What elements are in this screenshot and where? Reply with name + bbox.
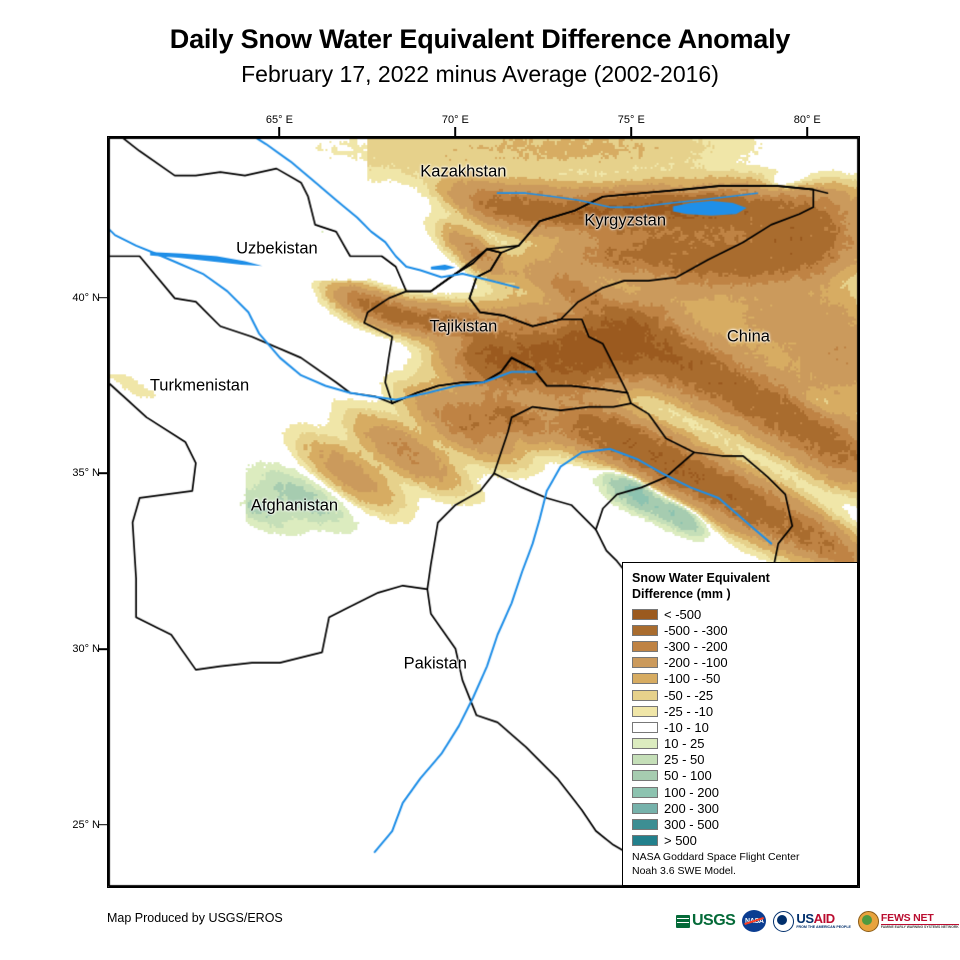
legend-entry: 50 - 100 [632,768,848,784]
legend-entry: -500 - -300 [632,622,848,638]
legend-swatch-14 [632,835,658,846]
legend-swatch-4 [632,673,658,684]
page-title: Daily Snow Water Equivalent Difference A… [0,22,960,56]
legend-entry: -50 - -25 [632,687,848,703]
lat-tick-label-0: 40° N [58,292,100,304]
lon-tick-label-3: 80° E [794,114,821,126]
legend-label-9: 25 - 50 [664,753,704,766]
legend-swatch-13 [632,819,658,830]
fews-logo-text: FEWS NET [881,913,959,926]
lat-tick-mark-0 [98,297,107,299]
legend-label-10: 50 - 100 [664,769,712,782]
legend-entry: 10 - 25 [632,736,848,752]
legend-swatch-12 [632,803,658,814]
legend-entry-list: < -500-500 - -300-300 - -200-200 - -100-… [632,606,848,849]
usaid-logo: USAID FROM THE AMERICAN PEOPLE [773,910,851,932]
legend-swatch-3 [632,657,658,668]
logo-strip: USGS NASA USAID FROM THE AMERICAN PEOPLE… [676,908,959,934]
lat-tick-label-2: 30° N [58,643,100,655]
legend-label-7: -10 - 10 [664,721,709,734]
page-subtitle: February 17, 2022 minus Average (2002-20… [0,59,960,89]
legend-label-12: 200 - 300 [664,802,719,815]
legend-entry: 100 - 200 [632,784,848,800]
legend-entry: 200 - 300 [632,800,848,816]
usgs-logo: USGS [676,910,735,932]
legend-label-14: > 500 [664,834,697,847]
usgs-logo-text: USGS [692,912,735,930]
legend-label-11: 100 - 200 [664,786,719,799]
lon-tick-mark-3 [806,127,808,136]
legend-entry: -10 - 10 [632,719,848,735]
legend-swatch-8 [632,738,658,749]
legend-swatch-0 [632,609,658,620]
legend-swatch-6 [632,706,658,717]
legend-entry: -300 - -200 [632,638,848,654]
nasa-logo-text: NASA [745,918,764,925]
legend-swatch-2 [632,641,658,652]
footer-credit: Map Produced by USGS/EROS [107,911,283,925]
lon-tick-label-0: 65° E [266,114,293,126]
fews-globe-icon [858,911,879,932]
legend-entry: < -500 [632,606,848,622]
lon-tick-label-1: 70° E [442,114,469,126]
legend-title: Snow Water Equivalent Difference (mm ) [632,571,848,602]
lon-tick-mark-1 [455,127,457,136]
lat-tick-label-3: 25° N [58,819,100,831]
legend-label-2: -300 - -200 [664,640,728,653]
legend-entry: > 500 [632,833,848,849]
usaid-tagline: FROM THE AMERICAN PEOPLE [796,926,851,930]
legend-label-13: 300 - 500 [664,818,719,831]
lon-tick-mark-0 [279,127,281,136]
legend-entry: -100 - -50 [632,671,848,687]
legend-label-8: 10 - 25 [664,737,704,750]
lat-tick-label-1: 35° N [58,467,100,479]
legend-swatch-11 [632,787,658,798]
legend-label-0: < -500 [664,608,701,621]
legend-swatch-1 [632,625,658,636]
legend-entry: 300 - 500 [632,816,848,832]
legend-entry: -200 - -100 [632,655,848,671]
legend-swatch-5 [632,690,658,701]
legend-label-6: -25 - -10 [664,705,713,718]
title-block: Daily Snow Water Equivalent Difference A… [0,22,960,89]
legend-swatch-9 [632,754,658,765]
legend-label-5: -50 - -25 [664,689,713,702]
legend-swatch-10 [632,770,658,781]
legend-source-note: NASA Goddard Space Flight Center Noah 3.… [632,851,800,878]
legend-entry: -25 - -10 [632,703,848,719]
lat-tick-mark-3 [98,824,107,826]
legend-label-4: -100 - -50 [664,672,720,685]
fews-net-logo: FEWS NET FAMINE EARLY WARNING SYSTEMS NE… [858,910,959,932]
lon-tick-label-2: 75° E [618,114,645,126]
legend-swatch-7 [632,722,658,733]
usgs-mark-icon [676,915,690,928]
usaid-seal-icon [773,911,794,932]
legend-label-3: -200 - -100 [664,656,728,669]
fews-tagline: FAMINE EARLY WARNING SYSTEMS NETWORK [881,926,959,929]
legend-entry: 25 - 50 [632,752,848,768]
legend-label-1: -500 - -300 [664,624,728,637]
lat-tick-mark-1 [98,473,107,475]
nasa-logo: NASA [742,910,766,932]
usaid-logo-text: USAID [796,912,851,925]
lon-tick-mark-2 [630,127,632,136]
legend-panel[interactable]: Snow Water Equivalent Difference (mm ) <… [622,562,858,886]
lat-tick-mark-2 [98,648,107,650]
